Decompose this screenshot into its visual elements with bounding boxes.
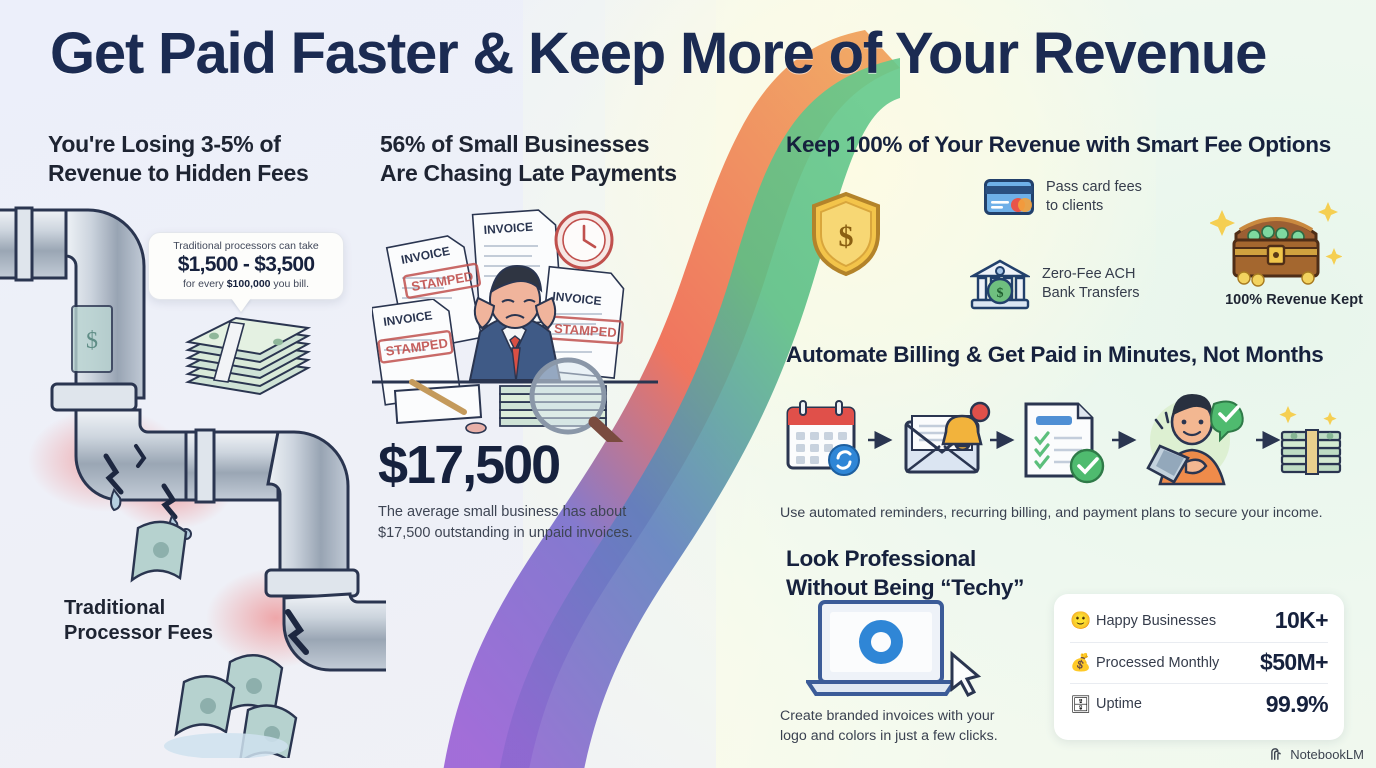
middle-column-heading: 56% of Small Businesses Are Chasing Late… [380, 130, 710, 189]
watermark-label: NotebookLM [1290, 747, 1364, 762]
bank-icon: $ [970, 258, 1030, 310]
fee-option-label: Zero-Fee ACH Bank Transfers [1042, 265, 1140, 303]
bell-icon [943, 403, 989, 450]
infographic-poster: Get Paid Faster & Keep More of Your Reve… [0, 0, 1376, 768]
invoice-approved-icon [1026, 404, 1103, 482]
middle-heading-line1: 56% of Small Businesses [380, 130, 710, 159]
left-heading-line1: You're Losing 3-5% of [48, 130, 378, 159]
automation-heading: Automate Billing & Get Paid in Minutes, … [786, 341, 1346, 370]
shield-dollar-icon: $ [806, 188, 886, 280]
callout-line3: for every $100,000 you bill. [158, 278, 334, 290]
notebooklm-icon [1270, 747, 1285, 762]
professional-heading-line1: Look Professional [786, 545, 1106, 574]
money-bag-icon: 💰 [1070, 654, 1096, 671]
callout-amount: $1,500 - $3,500 [158, 253, 334, 277]
laptop-cursor-icon [806, 596, 986, 704]
stat-value: 10K+ [1275, 607, 1328, 634]
calendar-recurring-icon [788, 401, 859, 475]
customer-tablet-icon [1148, 394, 1243, 484]
automation-description: Use automated reminders, recurring billi… [780, 505, 1350, 521]
stat-row: 🙂 Happy Businesses 10K+ [1070, 600, 1328, 642]
stressed-businessman-illustration: INVOICE INVOICE INVOICE INVOICE STAMPED … [372, 192, 658, 442]
fee-option-card: $ Zero-Fee ACH Bank Transfers [970, 258, 1140, 310]
pipe-caption: Traditional Processor Fees [64, 596, 294, 646]
callout-bill-amount: $100,000 [227, 278, 271, 290]
stat-label: Uptime [1096, 696, 1266, 712]
fee-options-heading: Keep 100% of Your Revenue with Smart Fee… [786, 131, 1346, 160]
svg-text:$: $ [997, 286, 1004, 301]
server-icon: 🗄 [1070, 696, 1096, 713]
automation-workflow [782, 388, 1342, 494]
fee-callout-bubble: Traditional processors can take $1,500 -… [148, 232, 344, 300]
pipe-caption-line2: Processor Fees [64, 621, 294, 646]
stat-description: The average small business has about $17… [378, 502, 678, 543]
credit-card-icon [984, 179, 1034, 215]
treasure-chest-icon [1210, 190, 1342, 290]
cash-stack-icon [178, 310, 318, 420]
notebooklm-watermark: NotebookLM [1270, 747, 1364, 762]
svg-text:$: $ [839, 220, 854, 253]
stat-row: 🗄 Uptime 99.9% [1070, 683, 1328, 725]
smiley-icon: 🙂 [1070, 612, 1096, 629]
stats-card: 🙂 Happy Businesses 10K+ 💰 Processed Mont… [1054, 594, 1344, 740]
stat-value: $17,500 [378, 438, 678, 492]
fee-option-card: Pass card fees to clients [984, 178, 1142, 216]
stat-value: 99.9% [1266, 691, 1328, 718]
left-heading-line2: Revenue to Hidden Fees [48, 159, 378, 188]
fee-option-label: Pass card fees to clients [1046, 178, 1142, 216]
stat-label: Happy Businesses [1096, 613, 1275, 629]
cash-stack-icon [1279, 406, 1340, 474]
professional-heading: Look Professional Without Being “Techy” [786, 545, 1106, 603]
clock-icon [556, 212, 612, 268]
callout-line1: Traditional processors can take [158, 240, 334, 252]
professional-description: Create branded invoices with your logo a… [780, 707, 1020, 746]
revenue-kept-label: 100% Revenue Kept [1204, 292, 1376, 308]
stat-row: 💰 Processed Monthly $50M+ [1070, 642, 1328, 684]
stat-value: $50M+ [1260, 649, 1328, 676]
pipe-caption-line1: Traditional [64, 596, 294, 621]
left-column-heading: You're Losing 3-5% of Revenue to Hidden … [48, 130, 378, 189]
svg-text:$: $ [86, 328, 98, 354]
email-reminder-icon [906, 403, 989, 472]
middle-heading-line2: Are Chasing Late Payments [380, 159, 710, 188]
unpaid-invoice-stat: $17,500 The average small business has a… [378, 438, 678, 543]
callout-tail [231, 298, 251, 312]
stat-label: Processed Monthly [1096, 655, 1260, 671]
page-title: Get Paid Faster & Keep More of Your Reve… [50, 24, 1350, 85]
